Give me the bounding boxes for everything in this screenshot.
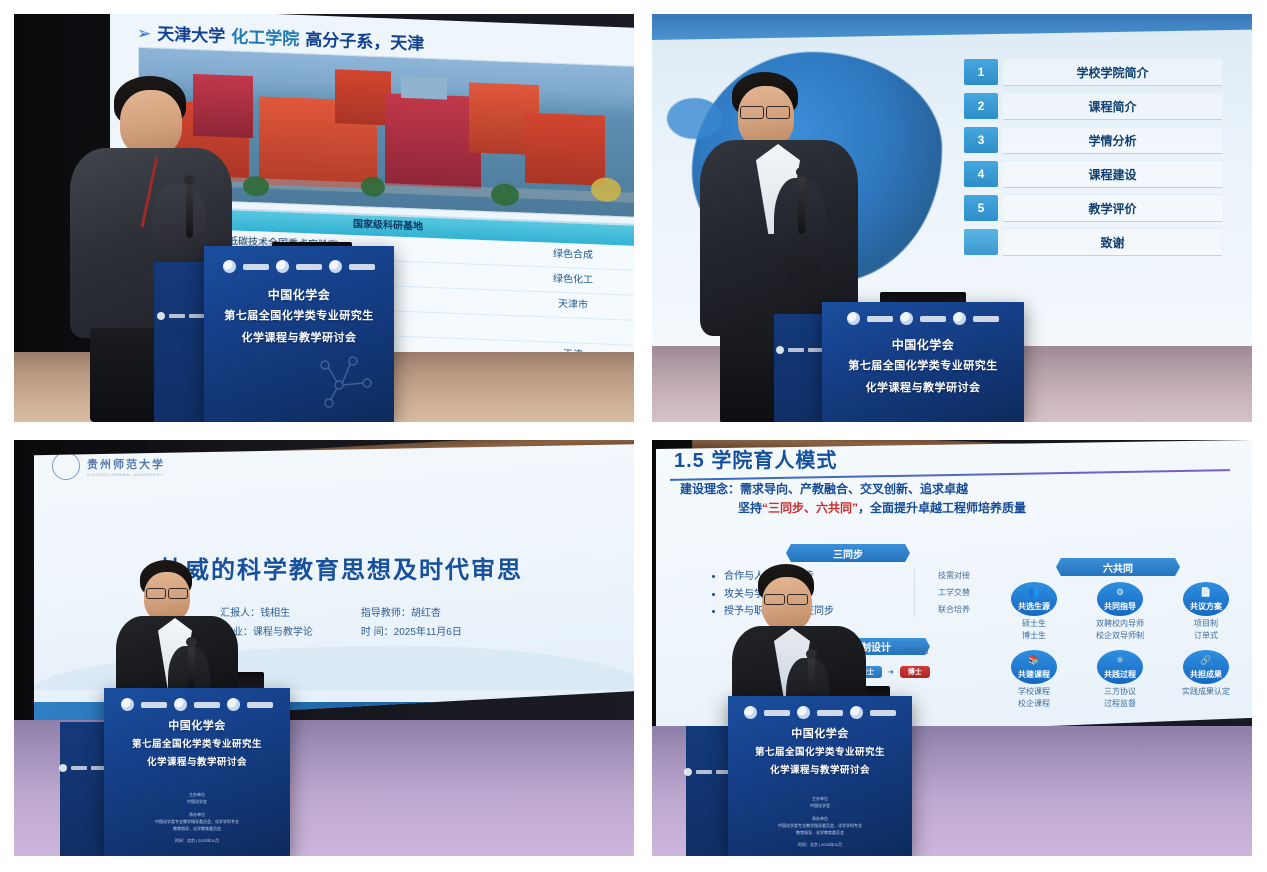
agenda-number: 5	[964, 195, 998, 221]
podium-logos	[204, 260, 394, 273]
six-common-item[interactable]: ⚙ 共同指导 双聘校内导师 校企双导师制	[1082, 582, 1158, 642]
scene-4: 1.5 学院育人模式 建设理念：需求导向、产教融合、交叉创新、追求卓越 坚持“三…	[652, 440, 1252, 856]
agenda-label: 学校学院简介	[1003, 58, 1222, 86]
six-cap2: 校企课程	[1018, 699, 1050, 708]
glasses	[766, 106, 790, 119]
logo-wordmark	[870, 710, 896, 716]
podium-line3: 化学课程与教学研讨会	[728, 764, 912, 779]
agenda-number: 3	[964, 127, 998, 153]
podium-logos	[104, 698, 290, 711]
cell-value	[508, 316, 634, 345]
podium-foot-date: 时间：北京 | 2025年11月	[728, 842, 912, 848]
lead-line2-pre: 坚持	[738, 501, 762, 515]
section-number: 1.5	[674, 450, 705, 472]
podium-line3: 化学课程与教学研讨会	[822, 380, 1024, 397]
tsinghua-logo	[953, 312, 966, 325]
agenda-number	[964, 229, 998, 255]
six-cap1: 双聘校内导师	[1096, 619, 1144, 628]
microphone	[186, 180, 193, 238]
logo-wordmark	[141, 702, 167, 708]
glasses	[740, 106, 764, 119]
podium-logos	[728, 706, 912, 719]
lead-label: 建设理念：	[680, 482, 740, 496]
agenda-label: 课程简介	[1003, 92, 1222, 120]
doc-icon: 📄	[1200, 587, 1211, 598]
bullet-arrow-icon: ➢	[137, 24, 151, 44]
podium-foot-org1: 中国化学类专业教学指导委员会、化学学科专业	[104, 819, 290, 825]
slide1-heading-c: 高分子系，天津	[305, 30, 424, 54]
six-common-grid: 👥 共选生源 硕士生 博士生 ⚙ 共同指导	[996, 582, 1244, 710]
podium-line2: 第七届全国化学类专业研究生	[822, 358, 1024, 375]
podium-logos	[822, 312, 1024, 325]
podium-line2: 第七届全国化学类专业研究生	[204, 308, 394, 325]
agenda-item[interactable]: 4 课程建设	[964, 160, 1222, 188]
university-logo	[276, 260, 289, 273]
six-label: 共选生源	[1018, 601, 1050, 612]
podium-line2: 第七届全国化学类专业研究生	[728, 746, 912, 761]
six-cap: 三方协议 过程监督	[1082, 686, 1158, 710]
cell-value: 绿色化工	[508, 266, 634, 295]
side-logo	[59, 764, 107, 772]
podium-line3: 化学课程与教学研讨会	[204, 330, 394, 347]
microphone	[188, 642, 195, 688]
six-label: 共议方案	[1190, 601, 1222, 612]
logo-wordmark	[296, 264, 322, 270]
six-cap: 项目制 订单式	[1168, 618, 1244, 642]
podium-4: 中国化学会 第七届全国化学类专业研究生 化学课程与教学研讨会 主办单位 中国化学…	[728, 696, 912, 856]
agenda-label: 教学评价	[1003, 194, 1222, 222]
lead-line1: 需求导向、产教融合、交叉创新、追求卓越	[740, 482, 968, 496]
six-cap2: 校企双导师制	[1096, 631, 1144, 640]
six-common-item[interactable]: 🔗 共担成果 实践成果认定	[1168, 650, 1244, 710]
university-logo	[900, 312, 913, 325]
logo-wordmark	[349, 264, 375, 270]
agenda-item[interactable]: 致谢	[964, 228, 1222, 256]
six-cap2: 博士生	[1022, 631, 1046, 640]
chemical-society-logo	[847, 312, 860, 325]
six-common-item[interactable]: 📚 共建课程 学校课程 校企课程	[996, 650, 1072, 710]
agenda-label: 课程建设	[1003, 160, 1222, 188]
gear-icon-disc: ⚙ 共同指导	[1097, 582, 1143, 616]
six-cap: 硕士生 博士生	[996, 618, 1072, 642]
tsinghua-logo	[850, 706, 863, 719]
podium-side-panel	[60, 722, 106, 856]
logo-wordmark	[867, 316, 893, 322]
podium-line2: 第七届全国化学类专业研究生	[104, 738, 290, 753]
six-cap1: 实践成果认定	[1182, 687, 1230, 696]
degree-chip-doctor: 博士	[900, 666, 930, 678]
podium-foot-date: 时间：北京 | 2025年11月	[104, 838, 290, 844]
six-cap: 学校课程 校企课程	[996, 686, 1072, 710]
book-icon-disc: 📚 共建课程	[1011, 650, 1057, 684]
lead-line2-red: “三同步、六共同”	[762, 501, 858, 515]
podium-2: 中国化学会 第七届全国化学类专业研究生 化学课程与教学研讨会	[822, 302, 1024, 422]
six-cap1: 三方协议	[1104, 687, 1136, 696]
slide1-heading-a: 天津大学	[157, 24, 225, 46]
photo-collage: ➢天津大学化工学院高分子系，天津	[0, 0, 1267, 872]
chemical-society-logo	[121, 698, 134, 711]
podium-foot-org-label: 承办单位	[104, 812, 290, 818]
slide-top-band	[652, 14, 1252, 40]
podium-org: 中国化学会	[104, 718, 290, 735]
agenda-number: 1	[964, 59, 998, 85]
agenda-list: 1 学校学院简介 2 课程简介 3 学情分析 4 课程建设	[964, 58, 1222, 262]
six-label: 共践过程	[1104, 669, 1136, 680]
side-keyword: 工学交替	[923, 585, 985, 602]
agenda-item[interactable]: 3 学情分析	[964, 126, 1222, 154]
six-common-item[interactable]: 👥 共选生源 硕士生 博士生	[996, 582, 1072, 642]
podium-side-panel	[774, 314, 826, 422]
podium-foot-org2: 教育指导、化学教育委员会	[728, 830, 912, 836]
podium-line3: 化学课程与教学研讨会	[104, 756, 290, 771]
photo-panel-2[interactable]: CONTENTS 1 学校学院简介 2 课程简介 3 学情分析	[652, 14, 1252, 422]
molecule-icon	[309, 351, 379, 411]
six-cap1: 学校课程	[1018, 687, 1050, 696]
logo-wordmark	[247, 702, 273, 708]
podium-1: 中国化学会 第七届全国化学类专业研究生 化学课程与教学研讨会	[204, 246, 394, 422]
glasses	[168, 588, 188, 599]
tsinghua-logo	[227, 698, 240, 711]
podium-side-panel	[686, 726, 730, 856]
scene-1: ➢天津大学化工学院高分子系，天津	[14, 14, 634, 422]
podium-org: 中国化学会	[728, 726, 912, 743]
six-label: 共同指导	[1104, 601, 1136, 612]
agenda-item[interactable]: 5 教学评价	[964, 194, 1222, 222]
ribbon-three-sync: 三同步	[786, 544, 910, 562]
book-icon: 📚	[1028, 655, 1039, 666]
agenda-label: 学情分析	[1003, 126, 1222, 154]
glasses	[764, 594, 785, 605]
university-seal-icon	[52, 452, 80, 480]
section-title: 学院育人模式	[711, 450, 837, 472]
cell-value: 绿色合成	[508, 241, 634, 270]
university-logo-block: 贵州师范大学 GUIZHOU NORMAL UNIVERSITY	[52, 452, 165, 480]
podium-foot-host-label: 主办单位	[104, 792, 290, 798]
side-keyword: 联合培养	[923, 602, 985, 619]
cell-value: 天津市	[508, 291, 634, 320]
six-common-item[interactable]: ⚛ 共践过程 三方协议 过程监督	[1082, 650, 1158, 710]
six-label: 共建课程	[1018, 669, 1050, 680]
agenda-number: 4	[964, 161, 998, 187]
logo-wordmark	[920, 316, 946, 322]
system-years: 3年左右	[904, 648, 929, 655]
logo-wordmark	[973, 316, 999, 322]
link-icon: 🔗	[1200, 655, 1211, 666]
atom-icon-disc: ⚛ 共践过程	[1097, 650, 1143, 684]
six-cap1: 硕士生	[1022, 619, 1046, 628]
six-cap2: 过程监督	[1104, 699, 1136, 708]
meta-advisor: 指导教师：胡红杏	[361, 604, 462, 623]
six-cap2: 订单式	[1194, 631, 1218, 640]
users-icon-disc: 👥 共选生源	[1011, 582, 1057, 616]
side-logo	[776, 346, 824, 354]
university-logo	[174, 698, 187, 711]
agenda-number: 2	[964, 93, 998, 119]
glasses	[146, 588, 166, 599]
logo-wordmark	[817, 710, 843, 716]
photo-panel-3[interactable]: 贵州师范大学 GUIZHOU NORMAL UNIVERSITY 杜威的科学教育…	[14, 440, 634, 856]
photo-panel-1[interactable]: ➢天津大学化工学院高分子系，天津	[14, 14, 634, 422]
six-cap: 双聘校内导师 校企双导师制	[1082, 618, 1158, 642]
podium-3: 中国化学会 第七届全国化学类专业研究生 化学课程与教学研讨会 主办单位 中国化学…	[104, 688, 290, 856]
side-logo	[684, 768, 732, 776]
users-icon: 👥	[1028, 587, 1039, 598]
side-keyword-list: 技需对接 工学交替 联合培养	[914, 568, 985, 618]
podium-org: 中国化学会	[822, 336, 1024, 355]
microphone	[798, 172, 805, 234]
chemical-society-logo	[744, 706, 757, 719]
scene-2: CONTENTS 1 学校学院简介 2 课程简介 3 学情分析	[652, 14, 1252, 422]
slide1-heading-b: 化工学院	[231, 27, 299, 49]
agenda-label: 致谢	[1003, 228, 1222, 256]
logo-wordmark	[194, 702, 220, 708]
logo-wordmark	[243, 264, 269, 270]
meta-date: 时 间：2025年11月6日	[361, 623, 462, 642]
meta-right: 指导教师：胡红杏 时 间：2025年11月6日	[361, 604, 462, 642]
tsinghua-logo	[329, 260, 342, 273]
side-keyword: 技需对接	[923, 568, 985, 585]
university-logo	[797, 706, 810, 719]
system-design-diagram: 3年左右	[904, 646, 929, 656]
podium-foot-org2: 教育指导、化学教育委员会	[104, 826, 290, 832]
six-label: 共担成果	[1190, 669, 1222, 680]
ribbon-six-common: 六共同	[1056, 558, 1180, 576]
university-name: 贵州师范大学 GUIZHOU NORMAL UNIVERSITY	[87, 456, 165, 477]
podium-foot-host: 中国化学会	[728, 803, 912, 809]
slide4-lead: 建设理念：需求导向、产教融合、交叉创新、追求卓越 坚持“三同步、六共同”，全面提…	[680, 480, 1238, 517]
doc-icon-disc: 📄 共议方案	[1183, 582, 1229, 616]
university-name-text: 贵州师范大学	[87, 459, 165, 471]
chemical-society-logo	[223, 260, 236, 273]
podium-foot-org-label: 承办单位	[728, 816, 912, 822]
logo-wordmark	[764, 710, 790, 716]
podium-foot-host: 中国化学会	[104, 799, 290, 805]
photo-panel-4[interactable]: 1.5 学院育人模式 建设理念：需求导向、产教融合、交叉创新、追求卓越 坚持“三…	[652, 440, 1252, 856]
glasses	[787, 594, 808, 605]
agenda-item[interactable]: 1 学校学院简介	[964, 58, 1222, 86]
podium-org: 中国化学会	[204, 286, 394, 305]
podium-foot-host-label: 主办单位	[728, 796, 912, 802]
side-logo	[157, 312, 205, 320]
podium-side-panel	[154, 262, 208, 422]
gear-icon: ⚙	[1116, 587, 1124, 598]
six-cap: 实践成果认定	[1168, 686, 1244, 698]
six-cap1: 项目制	[1194, 619, 1218, 628]
agenda-item[interactable]: 2 课程简介	[964, 92, 1222, 120]
head	[120, 90, 182, 156]
atom-icon: ⚛	[1116, 655, 1124, 666]
university-name-sub: GUIZHOU NORMAL UNIVERSITY	[87, 472, 165, 477]
six-common-item[interactable]: 📄 共议方案 项目制 订单式	[1168, 582, 1244, 642]
podium-foot-org1: 中国化学类专业教学指导委员会、化学学科专业	[728, 823, 912, 829]
scene-3: 贵州师范大学 GUIZHOU NORMAL UNIVERSITY 杜威的科学教育…	[14, 440, 634, 856]
link-icon-disc: 🔗 共担成果	[1183, 650, 1229, 684]
lead-line2-post: ，全面提升卓越工程师培养质量	[858, 501, 1026, 515]
